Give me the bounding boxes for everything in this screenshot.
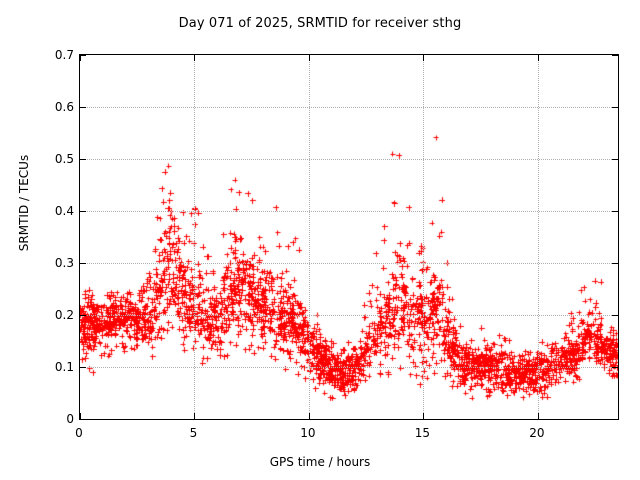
gridline-vertical: [194, 55, 195, 419]
y-tick-mark: [80, 159, 86, 160]
x-tick-mark: [538, 55, 539, 61]
x-tick-label: 0: [59, 426, 99, 440]
y-tick-mark: [612, 419, 618, 420]
y-tick-label: 0.6: [34, 100, 74, 114]
y-axis-tick-labels: 00.10.20.30.40.50.60.7: [30, 54, 74, 420]
y-tick-mark: [612, 107, 618, 108]
y-tick-label: 0.1: [34, 360, 74, 374]
x-tick-mark: [309, 413, 310, 419]
x-tick-mark: [538, 413, 539, 419]
y-tick-mark: [80, 107, 86, 108]
x-tick-label: 15: [402, 426, 442, 440]
y-tick-label: 0.4: [34, 204, 74, 218]
y-tick-mark: [612, 55, 618, 56]
y-tick-label: 0: [34, 412, 74, 426]
gridline-vertical: [538, 55, 539, 419]
x-tick-mark: [80, 413, 81, 419]
plot-area: [79, 54, 619, 420]
x-tick-label: 20: [517, 426, 557, 440]
y-tick-mark: [612, 315, 618, 316]
chart-root: Day 071 of 2025, SRMTID for receiver sth…: [0, 0, 640, 480]
y-tick-mark: [612, 159, 618, 160]
x-tick-mark: [423, 55, 424, 61]
gridline-vertical: [309, 55, 310, 419]
y-tick-mark: [80, 263, 86, 264]
y-tick-mark: [80, 367, 86, 368]
y-tick-mark: [612, 263, 618, 264]
x-tick-label: 5: [173, 426, 213, 440]
x-axis-title: GPS time / hours: [0, 455, 640, 469]
x-tick-mark: [80, 55, 81, 61]
x-axis-tick-labels: 05101520: [79, 426, 619, 446]
y-tick-label: 0.2: [34, 308, 74, 322]
y-tick-label: 0.7: [34, 48, 74, 62]
y-tick-mark: [612, 211, 618, 212]
y-axis-title: SRMTID / TECUs: [17, 113, 31, 293]
x-tick-mark: [194, 413, 195, 419]
y-tick-mark: [612, 367, 618, 368]
y-tick-label: 0.5: [34, 152, 74, 166]
y-tick-mark: [80, 419, 86, 420]
x-tick-label: 10: [288, 426, 328, 440]
chart-title: Day 071 of 2025, SRMTID for receiver sth…: [0, 16, 640, 31]
x-tick-mark: [194, 55, 195, 61]
y-tick-mark: [80, 315, 86, 316]
x-tick-mark: [309, 55, 310, 61]
gridline-vertical: [423, 55, 424, 419]
y-tick-label: 0.3: [34, 256, 74, 270]
x-tick-mark: [423, 413, 424, 419]
y-tick-mark: [80, 211, 86, 212]
